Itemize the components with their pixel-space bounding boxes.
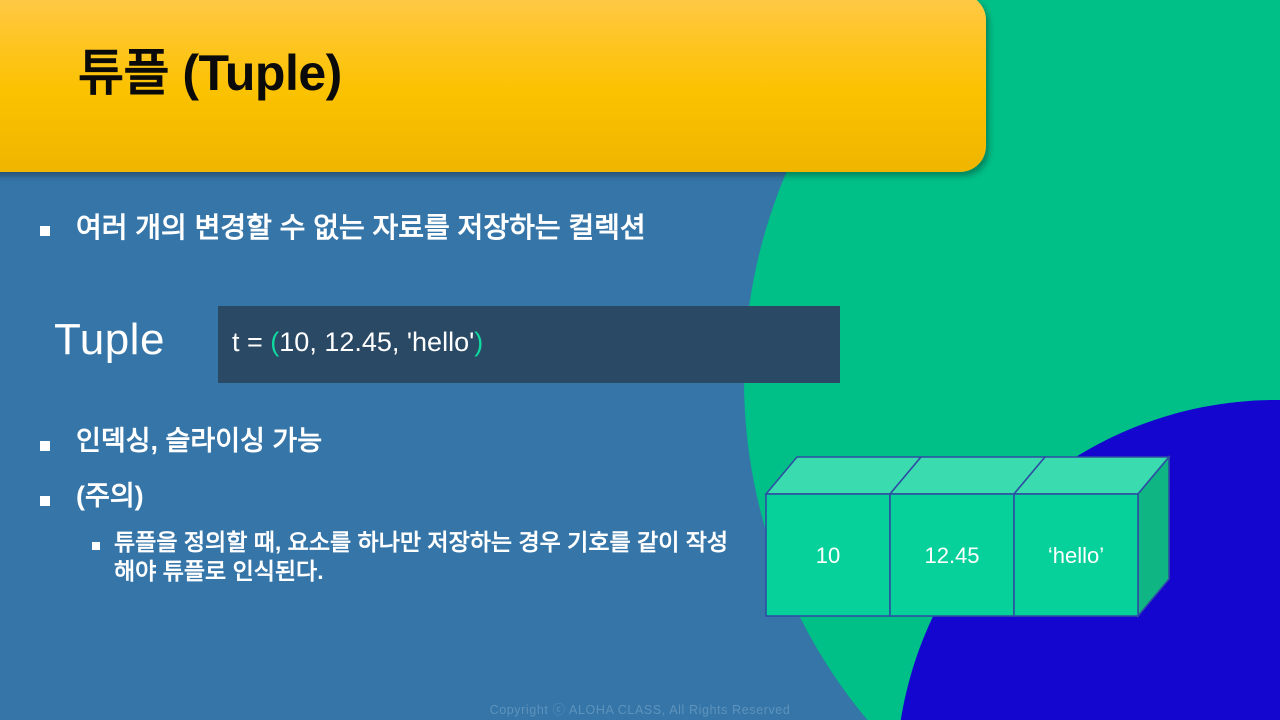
slide-canvas: 튜플 (Tuple) 여러 개의 변경할 수 없는 자료를 저장하는 컬렉션 T… <box>0 0 1280 720</box>
bullet-label: 여러 개의 변경할 수 없는 자료를 저장하는 컬렉션 <box>76 210 646 245</box>
footer-copyright: Copyright ⓒ ALOHA CLASS, All Rights Rese… <box>0 699 1280 718</box>
sub-bullet-label: 튜플을 정의할 때, 요소를 하나만 저장하는 경우 기호를 같이 작성해야 튜… <box>114 528 734 586</box>
bullet-item-caution: (주의) <box>40 480 144 514</box>
code-body: 10, 12.45, 'hello' <box>279 327 474 357</box>
square-bullet-icon <box>40 441 50 451</box>
bullet-label: (주의) <box>76 480 144 514</box>
code-assign: t = <box>232 327 270 357</box>
cube-value: ‘hello’ <box>1048 543 1104 568</box>
bullet-item-collection: 여러 개의 변경할 수 없는 자료를 저장하는 컬렉션 <box>40 210 646 245</box>
tuple-cube-diagram: 10 12.45 ‘hello’ <box>756 445 1186 630</box>
square-bullet-icon <box>92 542 100 550</box>
code-close-paren: ) <box>474 327 483 357</box>
cube-value: 12.45 <box>924 543 979 568</box>
bullet-label: 인덱싱, 슬라이싱 가능 <box>76 425 322 459</box>
tuple-label: Tuple <box>54 318 165 362</box>
code-open-paren: ( <box>270 327 279 357</box>
bullet-item-indexing: 인덱싱, 슬라이싱 가능 <box>40 425 322 459</box>
sub-bullet-item-single-element: 튜플을 정의할 때, 요소를 하나만 저장하는 경우 기호를 같이 작성해야 튜… <box>92 528 734 586</box>
square-bullet-icon <box>40 226 50 236</box>
cube-value: 10 <box>816 543 840 568</box>
cube-item: ‘hello’ <box>1014 457 1169 616</box>
code-line: t = (10, 12.45, 'hello') <box>232 324 483 362</box>
square-bullet-icon <box>40 496 50 506</box>
code-block: t = (10, 12.45, 'hello') <box>218 306 840 383</box>
page-title: 튜플 (Tuple) <box>78 46 342 101</box>
